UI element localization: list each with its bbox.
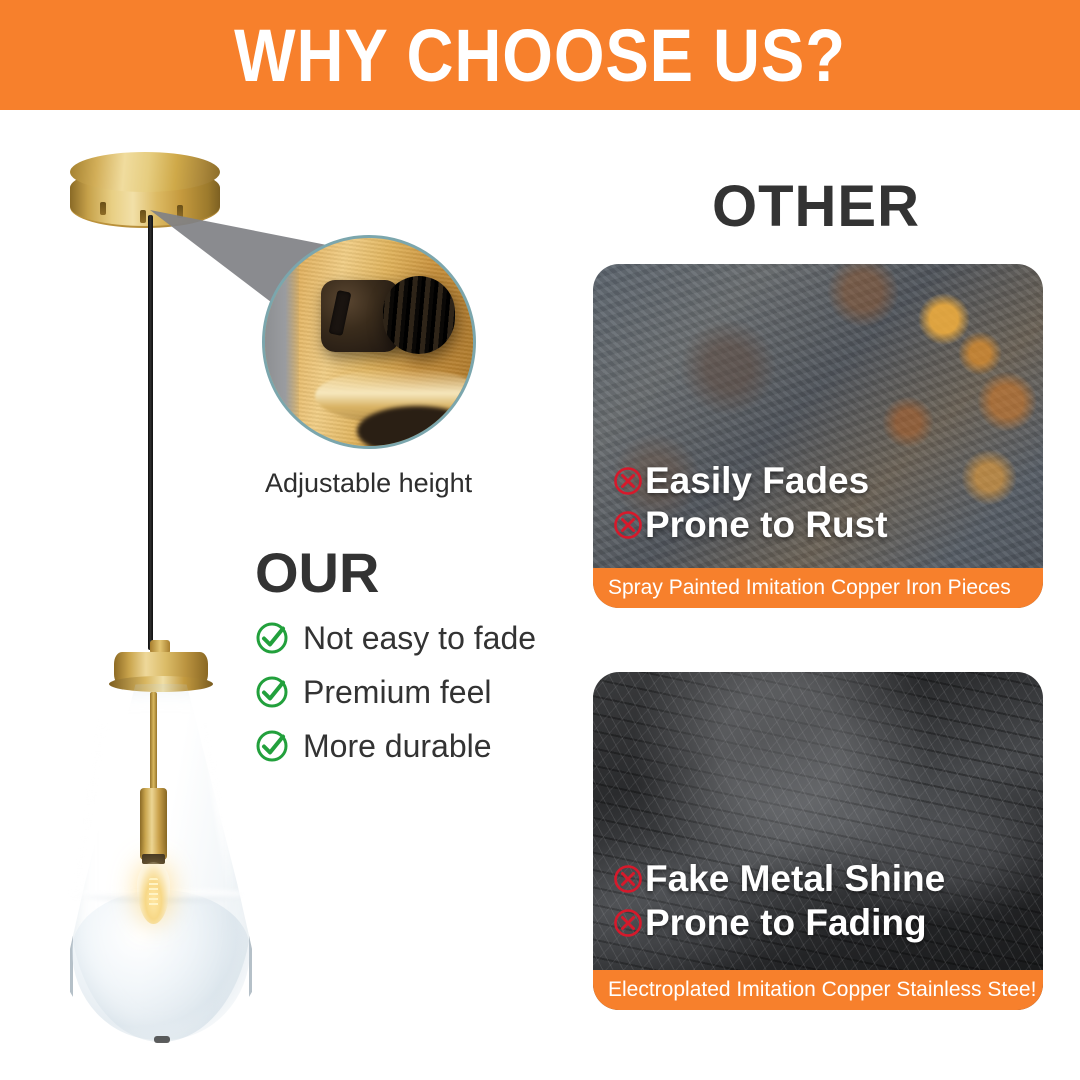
canopy-top-face [70, 152, 220, 192]
check-circle-icon [255, 675, 289, 709]
rusted-metal-photo [593, 264, 1043, 608]
x-circle-icon [613, 466, 643, 496]
x-circle-icon [613, 864, 643, 894]
card-drawback-label: Easily Fades [645, 460, 869, 502]
canopy-recess-shadow [357, 406, 476, 449]
card-drawback-list: Fake Metal Shine Prone to Fading [613, 858, 945, 944]
brass-bulb-socket [140, 788, 167, 860]
other-comparison-card: Easily Fades Prone to Rust Spray Painted… [593, 264, 1043, 608]
card-drawback-list: Easily Fades Prone to Rust [613, 460, 888, 546]
card-caption-label: Electroplated Imitation Copper Stainless… [608, 978, 1036, 1002]
bulb-filament [149, 878, 158, 908]
other-comparison-card: Fake Metal Shine Prone to Fading Electro… [593, 672, 1043, 1010]
x-circle-icon [613, 908, 643, 938]
infographic-page: WHY CHOOSE US? Adjustable height [0, 0, 1080, 1080]
card-drawback-item: Easily Fades [613, 460, 888, 502]
inner-brass-rod [150, 692, 157, 800]
dark-scratched-metal-photo [593, 672, 1043, 1010]
card-drawback-item: Prone to Rust [613, 504, 888, 546]
canopy-screw-icon [140, 210, 146, 223]
canopy-screw-icon [100, 202, 106, 215]
our-heading: OUR [255, 545, 575, 601]
hanging-cord [148, 215, 153, 650]
card-caption-bar: Spray Painted Imitation Copper Iron Piec… [593, 568, 1043, 608]
our-benefit-label: Not easy to fade [303, 620, 536, 657]
check-circle-icon [255, 621, 289, 655]
card-drawback-label: Prone to Rust [645, 504, 888, 546]
our-benefit-label: Premium feel [303, 674, 492, 711]
our-benefit-item: Not easy to fade [255, 615, 575, 661]
our-benefit-label: More durable [303, 728, 492, 765]
glass-bottom-tip [154, 1036, 170, 1043]
our-benefit-item: More durable [255, 723, 575, 769]
card-drawback-label: Fake Metal Shine [645, 858, 945, 900]
glass-pendant-shade [62, 640, 282, 1060]
card-caption-bar: Electroplated Imitation Copper Stainless… [593, 970, 1043, 1010]
magnifier-edge-shadow [265, 238, 299, 446]
magnifier-detail-circle [262, 235, 476, 449]
other-heading: OTHER [712, 178, 920, 236]
screw-slot-icon [329, 290, 352, 336]
card-drawback-item: Fake Metal Shine [613, 858, 945, 900]
card-caption-label: Spray Painted Imitation Copper Iron Piec… [608, 576, 1011, 600]
our-benefit-item: Premium feel [255, 669, 575, 715]
x-circle-icon [613, 510, 643, 540]
check-circle-icon [255, 729, 289, 763]
header-banner: WHY CHOOSE US? [0, 0, 1080, 110]
screw-thread-barrel [383, 276, 455, 354]
card-drawback-item: Prone to Fading [613, 902, 945, 944]
our-benefits-section: OUR Not easy to fade Premium feel More d… [255, 545, 575, 777]
adjustable-height-label: Adjustable height [265, 468, 472, 499]
card-drawback-label: Prone to Fading [645, 902, 927, 944]
page-title: WHY CHOOSE US? [65, 0, 1015, 110]
